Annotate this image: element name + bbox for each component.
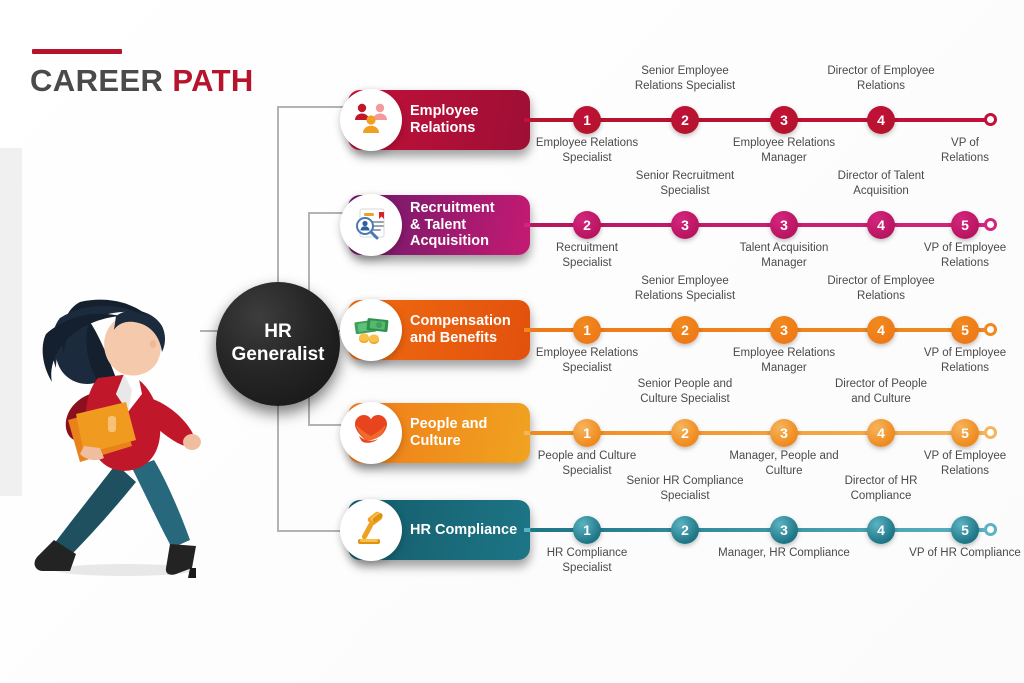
milestone-label: Employee RelationsSpecialist — [512, 136, 662, 165]
milestone-node[interactable]: 3 — [671, 211, 699, 239]
milestone-node[interactable]: 4 — [867, 106, 895, 134]
milestone-node[interactable]: 5 — [951, 516, 979, 544]
people-group-icon — [351, 98, 391, 143]
milestone-node[interactable]: 3 — [770, 316, 798, 344]
milestone-node[interactable]: 4 — [867, 316, 895, 344]
career-row-hr-compliance: HR Compliance1HR ComplianceSpecialist2Se… — [0, 500, 1024, 600]
track-endpoint-dot — [984, 218, 997, 231]
milestone-node[interactable]: 1 — [573, 316, 601, 344]
gavel-icon — [351, 508, 391, 553]
milestone-label: Senior EmployeeRelations Specialist — [610, 274, 760, 303]
milestone-label: RecruitmentSpecialist — [512, 241, 662, 270]
resume-search-icon — [351, 203, 391, 248]
category-card-label: EmployeeRelations — [410, 103, 487, 136]
milestone-label: Director of Peopleand Culture — [806, 377, 956, 406]
track-endpoint-dot — [984, 113, 997, 126]
milestone-label: Senior EmployeeRelations Specialist — [610, 64, 760, 93]
milestone-label: Employee RelationsManager — [709, 136, 859, 165]
track-endpoint-dot — [984, 523, 997, 536]
title-underline-bar — [32, 49, 122, 54]
milestone-label: Director of HRCompliance — [806, 474, 956, 503]
milestone-node[interactable]: 1 — [573, 106, 601, 134]
milestone-node[interactable]: 2 — [671, 419, 699, 447]
category-badge-employee-relations — [340, 89, 402, 151]
milestone-label: HR ComplianceSpecialist — [512, 546, 662, 575]
heart-hand-icon — [351, 411, 391, 456]
category-badge-hr-compliance — [340, 499, 402, 561]
milestone-node[interactable]: 2 — [671, 106, 699, 134]
category-badge-people-and-culture — [340, 402, 402, 464]
milestone-label: Manager, HR Compliance — [709, 546, 859, 561]
milestone-node[interactable]: 4 — [867, 516, 895, 544]
infographic-canvas: CAREER PATH — [0, 0, 1024, 683]
milestone-label: Senior RecruitmentSpecialist — [610, 169, 760, 198]
milestone-node[interactable]: 2 — [671, 516, 699, 544]
track-endpoint-dot — [984, 323, 997, 336]
category-badge-recruitment-talent-acquisition — [340, 194, 402, 256]
milestone-label: Senior HR ComplianceSpecialist — [610, 474, 760, 503]
milestone-label: VP of EmployeeRelations — [890, 241, 1024, 270]
category-card-label: Recruitment& TalentAcquisition — [410, 200, 503, 250]
milestone-label: Director of EmployeeRelations — [806, 64, 956, 93]
milestone-node[interactable]: 5 — [951, 211, 979, 239]
milestone-label: Employee RelationsManager — [709, 346, 859, 375]
milestone-label: Talent AcquisitionManager — [709, 241, 859, 270]
milestone-node[interactable]: 5 — [951, 419, 979, 447]
category-card-label: HR Compliance — [410, 522, 525, 539]
milestone-label: Senior People andCulture Specialist — [610, 377, 760, 406]
milestone-node[interactable]: 3 — [770, 419, 798, 447]
milestone-node[interactable]: 3 — [770, 211, 798, 239]
milestone-label: VP of HR Compliance — [890, 546, 1024, 561]
milestone-node[interactable]: 2 — [671, 316, 699, 344]
milestone-label: VP ofRelations — [890, 136, 1024, 165]
milestone-label: Director of EmployeeRelations — [806, 274, 956, 303]
milestone-node[interactable]: 3 — [770, 106, 798, 134]
money-cash-icon — [351, 308, 391, 353]
milestone-node[interactable]: 2 — [573, 211, 601, 239]
milestone-node[interactable]: 5 — [951, 316, 979, 344]
milestone-label: VP of EmployeeRelations — [890, 346, 1024, 375]
milestone-node[interactable]: 4 — [867, 419, 895, 447]
category-badge-compensation-and-benefits — [340, 299, 402, 361]
milestone-node[interactable]: 1 — [573, 516, 601, 544]
category-card-label: Compensationand Benefits — [410, 313, 519, 346]
milestone-label: Employee RelationsSpecialist — [512, 346, 662, 375]
category-card-label: People andCulture — [410, 416, 495, 449]
milestone-node[interactable]: 3 — [770, 516, 798, 544]
milestone-node[interactable]: 1 — [573, 419, 601, 447]
milestone-node[interactable]: 4 — [867, 211, 895, 239]
milestone-label: Director of TalentAcquisition — [806, 169, 956, 198]
track-endpoint-dot — [984, 426, 997, 439]
